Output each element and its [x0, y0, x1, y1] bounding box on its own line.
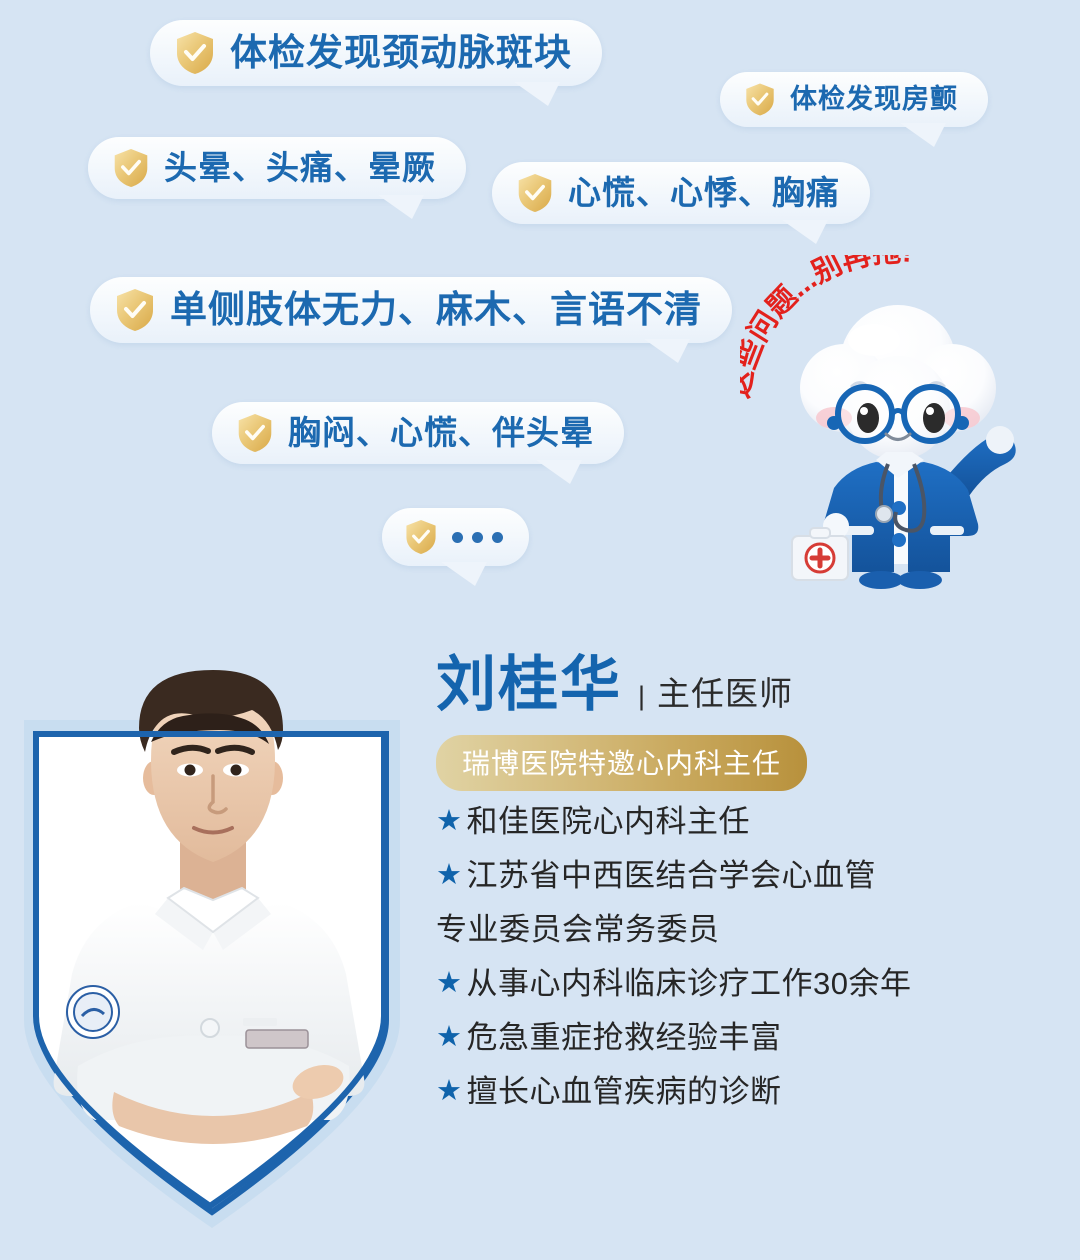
credential-text: 从事心内科临床诊疗工作30余年 [467, 962, 912, 1007]
credential-item: ★ 从事心内科临床诊疗工作30余年 [436, 962, 1056, 1007]
doctor-info-panel: 刘桂华 | 主任医师 瑞博医院特邀心内科主任 ★ 和佳医院心内科主任 ★ 江苏省… [436, 655, 1056, 1115]
bubble-tail [514, 82, 560, 106]
bubble-tail [536, 460, 582, 484]
symptom-bubble[interactable]: 胸闷、心慌、伴头晕 [212, 402, 624, 464]
bubble-tail [644, 339, 690, 363]
bubble-tail [378, 195, 424, 219]
poster-canvas: 体检发现颈动脉斑块 体检发现房颤 头晕、头痛、晕厥 心慌、心悸、胸痛 单侧肢体无 [0, 0, 1080, 1260]
doctor-name-row: 刘桂华 | 主任医师 [436, 655, 1056, 715]
bubble-tail [441, 562, 487, 586]
symptom-bubble[interactable]: 体检发现颈动脉斑块 [150, 20, 602, 86]
star-icon: ★ [436, 800, 463, 844]
symptom-label: 胸闷、心慌、伴头晕 [288, 415, 594, 451]
credential-text: 江苏省中西医结合学会心血管 [467, 854, 877, 899]
doctor-portrait [18, 630, 408, 1242]
bubble-tail [782, 220, 828, 244]
symptom-label: 体检发现房颤 [790, 85, 958, 115]
ellipsis-icon [452, 532, 503, 543]
gold-shield-check-icon [516, 172, 554, 214]
symptom-bubble-more[interactable] [382, 508, 529, 566]
bubble-tail [900, 123, 946, 147]
credential-item: ★ 江苏省中西医结合学会心血管 [436, 854, 1056, 899]
doctor-title: 主任医师 [657, 667, 793, 715]
credential-text-continued: 专业委员会常务委员 [436, 908, 720, 953]
credential-item: ★ 和佳医院心内科主任 [436, 800, 1056, 845]
star-icon: ★ [436, 962, 463, 1006]
credential-item: ★ 擅长心血管疾病的诊断 [436, 1070, 1056, 1115]
symptom-bubble[interactable]: 体检发现房颤 [720, 72, 988, 127]
doctor-badge: 瑞博医院特邀心内科主任 [436, 735, 807, 791]
cloud-doctor-mascot [748, 268, 1048, 598]
name-title-separator: | [638, 681, 645, 712]
symptom-label: 体检发现颈动脉斑块 [230, 33, 572, 74]
credential-item: ★ 危急重症抢救经验丰富 [436, 1016, 1056, 1061]
symptom-label: 心慌、心悸、胸痛 [568, 175, 840, 211]
credential-continuation: 专业委员会常务委员 [436, 908, 1056, 953]
symptom-label: 头晕、头痛、晕厥 [164, 150, 436, 186]
star-icon: ★ [436, 1070, 463, 1114]
symptom-bubble[interactable]: 单侧肢体无力、麻木、言语不清 [90, 277, 732, 343]
gold-shield-check-icon [744, 82, 776, 117]
symptom-bubble[interactable]: 心慌、心悸、胸痛 [492, 162, 870, 224]
credential-text: 擅长心血管疾病的诊断 [467, 1070, 782, 1115]
star-icon: ★ [436, 1016, 463, 1060]
gold-shield-check-icon [174, 30, 216, 76]
gold-shield-check-icon [236, 412, 274, 454]
mascot-head [800, 305, 996, 460]
gold-shield-check-icon [114, 287, 156, 333]
credential-text: 危急重症抢救经验丰富 [467, 1016, 782, 1061]
star-icon: ★ [436, 854, 463, 898]
symptom-bubble[interactable]: 头晕、头痛、晕厥 [88, 137, 466, 199]
symptom-label: 单侧肢体无力、麻木、言语不清 [170, 290, 702, 331]
gold-shield-check-icon [404, 518, 438, 556]
doctor-name: 刘桂华 [436, 655, 622, 715]
gold-shield-check-icon [112, 147, 150, 189]
credential-text: 和佳医院心内科主任 [467, 800, 751, 845]
